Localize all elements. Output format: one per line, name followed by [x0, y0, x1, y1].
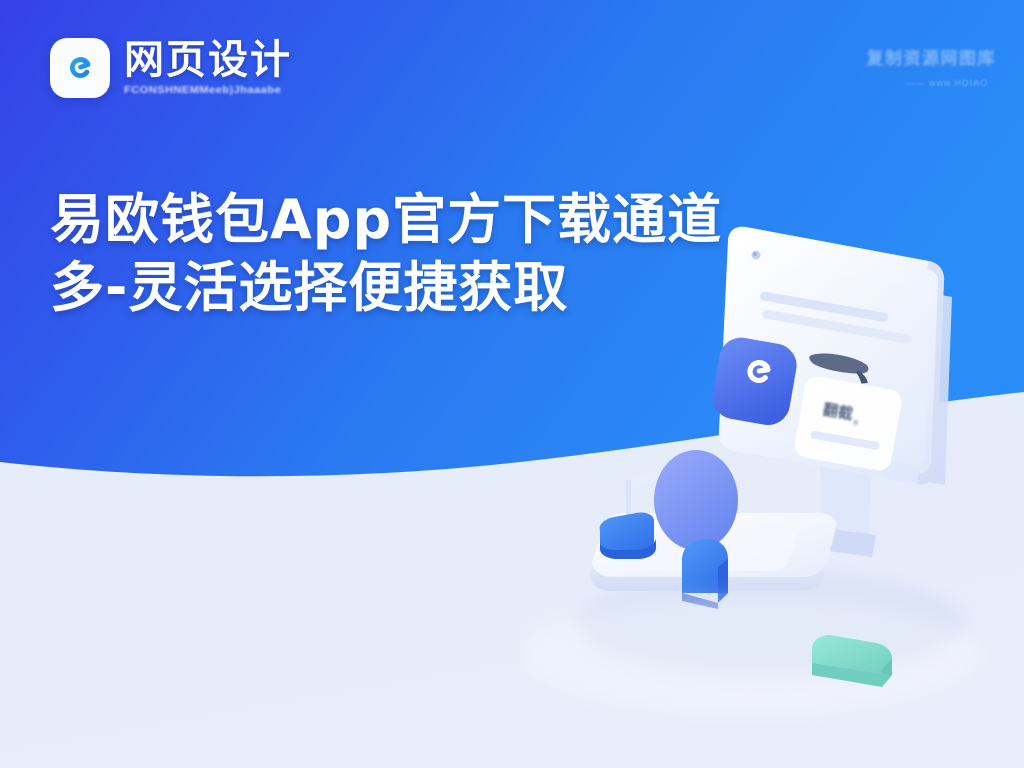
brand-logo: 网页设计 FCONSHNEMMeeb)Jhaaabe [50, 38, 292, 98]
svg-text:乡: 乡 [852, 418, 860, 427]
watermark-sub-text: —— www.HDIAO [905, 78, 988, 88]
brand-title: 网页设计 [124, 40, 292, 80]
headline: 易欧钱包App官方下载通道 多-灵活选择便捷获取 [50, 186, 722, 322]
watermark-main-text: 复制资源网图库 [867, 44, 997, 69]
headline-line-1: 易欧钱包App官方下载通道 [50, 186, 722, 254]
headline-line-2: 多-灵活选择便捷获取 [50, 254, 722, 322]
okx-c-logo-icon [50, 38, 110, 98]
brand-subtitle: FCONSHNEMMeeb)Jhaaabe [124, 85, 292, 95]
watermark: 复制资源网图库 —— www.HDIAO [867, 44, 997, 88]
banner-canvas: 网页设计 FCONSHNEMMeeb)Jhaaabe 复制资源网图库 —— ww… [0, 0, 1024, 768]
